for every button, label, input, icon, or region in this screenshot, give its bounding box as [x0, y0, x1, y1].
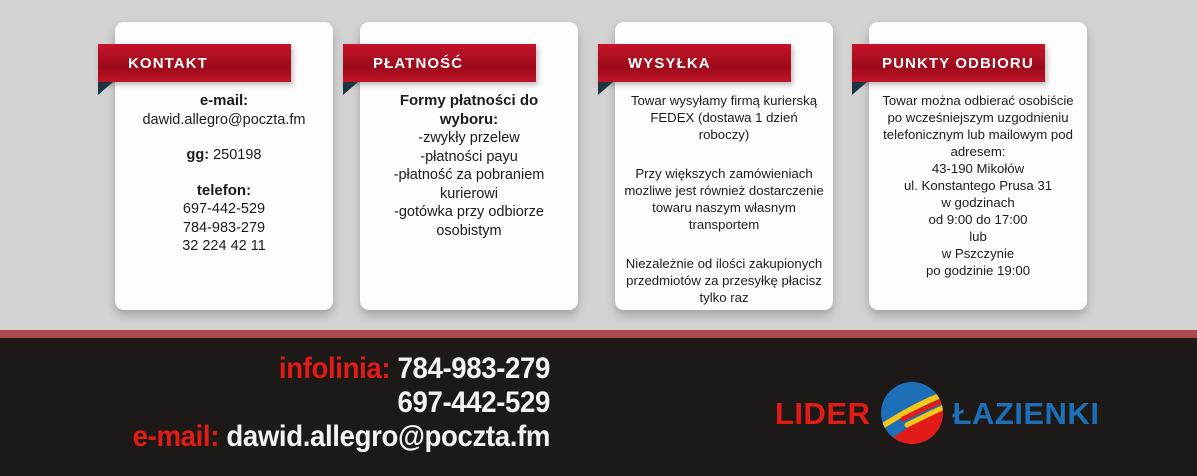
card-text-line: osobistym	[368, 222, 570, 241]
spacer	[623, 233, 825, 255]
card-text-line: 697-442-529	[123, 200, 325, 219]
card-text-line: 784-983-279	[123, 219, 325, 238]
card-text-line: 43-190 Mikołów	[877, 160, 1079, 177]
card-ribbon: PŁATNOŚĆ	[343, 44, 536, 82]
card-text-line: przedmiotów za przesyłkę płacisz	[623, 272, 825, 289]
info-cards-row: KONTAKTe-mail:dawid.allegro@poczta.fmgg:…	[0, 0, 1197, 330]
footer-contact-value[interactable]: 784-983-279	[398, 352, 550, 385]
card-text-line: Formy płatności do	[368, 92, 570, 111]
card-title: PUNKTY ODBIORU	[882, 55, 1034, 72]
logo-text-lider: LIDER	[775, 398, 871, 429]
info-card: KONTAKTe-mail:dawid.allegro@poczta.fmgg:…	[115, 22, 333, 310]
card-text-line: od 9:00 do 17:00	[877, 211, 1079, 228]
card-text-line: po godzinie 19:00	[877, 262, 1079, 279]
spacer	[123, 165, 325, 182]
info-card: PUNKTY ODBIORUTowar można odbierać osobi…	[869, 22, 1087, 310]
card-text-line: telefonicznym lub mailowym pod	[877, 126, 1079, 143]
card-text-line: 32 224 42 11	[123, 237, 325, 256]
ribbon-fold-icon	[98, 82, 113, 95]
card-text-line: adresem:	[877, 143, 1079, 160]
footer-contact-line: 697-442-529	[44, 386, 550, 420]
spacer	[123, 129, 325, 146]
footer-contact-value[interactable]: 697-442-529	[398, 386, 550, 419]
card-text-line: w Pszczynie	[877, 245, 1079, 262]
card-ribbon: PUNKTY ODBIORU	[852, 44, 1045, 82]
card-text-line: -gotówka przy odbiorze	[368, 203, 570, 222]
card-text-value: 250198	[213, 147, 261, 163]
ribbon-fold-icon	[598, 82, 613, 95]
card-body: e-mail:dawid.allegro@poczta.fmgg: 250198…	[115, 92, 333, 256]
footer-contact-line: e-mail: dawid.allegro@poczta.fm	[44, 420, 550, 454]
card-text-line: Towar wysyłamy firmą kurierską	[623, 92, 825, 109]
card-title: KONTAKT	[128, 55, 208, 72]
footer-divider	[0, 330, 1197, 338]
card-text-line: ul. Konstantego Prusa 31	[877, 177, 1079, 194]
card-text-line: -płatności payu	[368, 148, 570, 167]
card-text-line: Towar można odbierać osobiście	[877, 92, 1079, 109]
card-ribbon-banner: PUNKTY ODBIORU	[852, 44, 1045, 82]
card-text-line: w godzinach	[877, 194, 1079, 211]
card-body: Formy płatności dowyboru:-zwykły przelew…	[360, 92, 578, 240]
card-title: PŁATNOŚĆ	[373, 55, 463, 72]
card-text-line: tylko raz	[623, 289, 825, 306]
card-text-line: FEDEX (dostawa 1 dzień	[623, 109, 825, 126]
card-text-line: lub	[877, 228, 1079, 245]
card-ribbon: KONTAKT	[98, 44, 291, 82]
card-text-line: wyboru:	[368, 111, 570, 130]
card-text-line: telefon:	[123, 182, 325, 201]
card-text-line: e-mail:	[123, 92, 325, 111]
card-text-key: gg:	[187, 147, 210, 163]
footer-contact-line: infolinia: 784-983-279	[44, 352, 550, 386]
card-ribbon-banner: WYSYŁKA	[598, 44, 791, 82]
info-card: WYSYŁKATowar wysyłamy firmą kurierskąFED…	[615, 22, 833, 310]
card-text-line: po wcześniejszym uzgodnieniu	[877, 109, 1079, 126]
info-card: PŁATNOŚĆFormy płatności dowyboru:-zwykły…	[360, 22, 578, 310]
card-text-line: gg: 250198	[123, 146, 325, 165]
ribbon-fold-icon	[343, 82, 358, 95]
card-text-line: Przy większych zamówieniach	[623, 165, 825, 182]
card-body: Towar można odbierać osobiściepo wcześni…	[869, 92, 1087, 279]
card-text-line: towaru naszym własnym	[623, 199, 825, 216]
footer-contact-label: infolinia:	[279, 352, 390, 385]
card-ribbon: WYSYŁKA	[598, 44, 791, 82]
card-text-line: transportem	[623, 216, 825, 233]
footer-contact-value[interactable]: dawid.allegro@poczta.fm	[226, 420, 550, 453]
ribbon-fold-icon	[852, 82, 867, 95]
card-ribbon-banner: PŁATNOŚĆ	[343, 44, 536, 82]
footer-contact-label: e-mail:	[133, 420, 219, 453]
spacer	[623, 143, 825, 165]
logo-text-lazienki: ŁAZIENKI	[953, 398, 1100, 429]
card-text-line: Niezależnie od ilości zakupionych	[623, 255, 825, 272]
card-title: WYSYŁKA	[628, 55, 711, 72]
card-text-line: -zwykły przelew	[368, 129, 570, 148]
card-body: Towar wysyłamy firmą kurierskąFEDEX (dos…	[615, 92, 833, 306]
footer-contact-block: infolinia: 784-983-279697-442-529e-mail:…	[0, 352, 560, 454]
card-text-line: mozliwe jest również dostarczenie	[623, 182, 825, 199]
card-ribbon-banner: KONTAKT	[98, 44, 291, 82]
card-text-line: kurierowi	[368, 185, 570, 204]
card-text-line: -płatność za pobraniem	[368, 166, 570, 185]
card-text-line: dawid.allegro@poczta.fm	[123, 111, 325, 130]
brand-logo[interactable]: LIDER ŁAZIENKI	[775, 378, 1095, 448]
card-text-line: roboczy)	[623, 126, 825, 143]
logo-circle-icon	[873, 379, 951, 447]
